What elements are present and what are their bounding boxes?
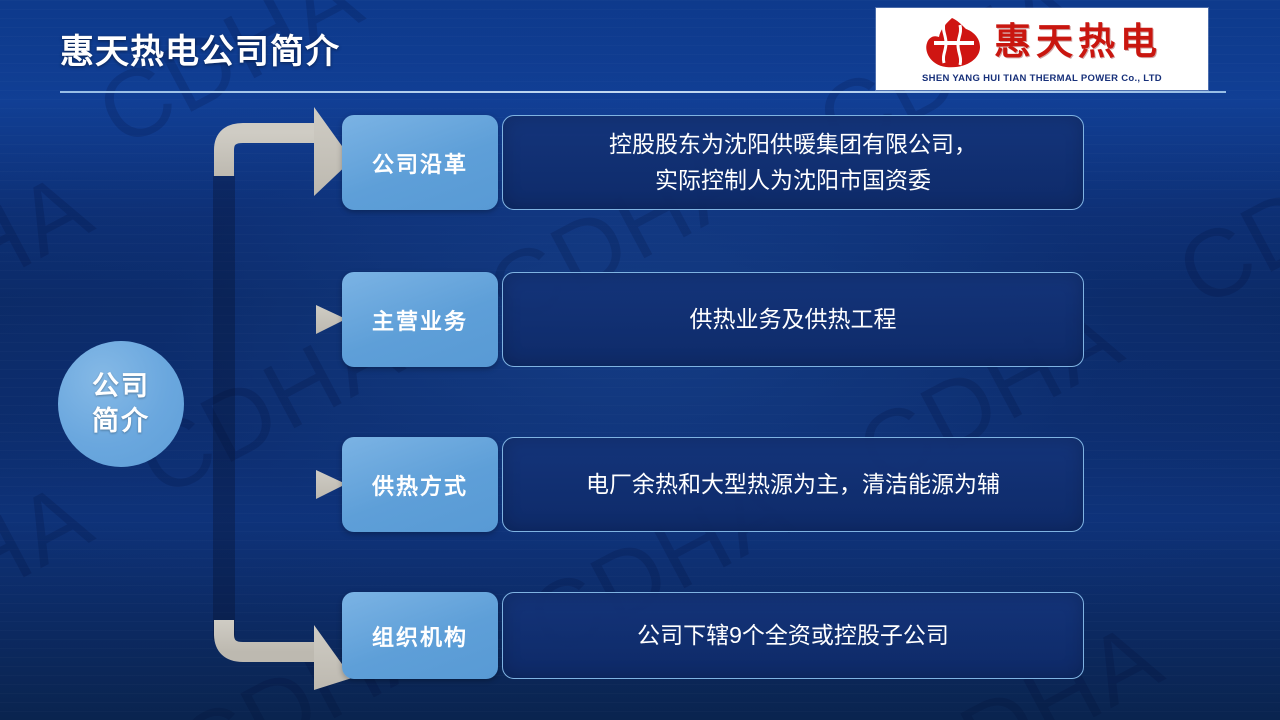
row-content-2: 供热业务及供热工程 bbox=[502, 272, 1084, 367]
company-logo: 惠天热电 SHEN YANG HUI TIAN THERMAL POWER Co… bbox=[876, 8, 1208, 90]
logo-chinese-name: 惠天热电 bbox=[994, 24, 1162, 61]
slide-canvas: CDHA CDHA CDHA CDHA CDHA CDHA CDHA CDHA … bbox=[0, 0, 1280, 720]
header-divider bbox=[60, 91, 1226, 93]
row-content-1-line-2: 实际控制人为沈阳市国资委 bbox=[609, 163, 977, 199]
hub-line-2: 简介 bbox=[92, 404, 150, 439]
row-content-3-line-1: 电厂余热和大型热源为主，清洁能源为辅 bbox=[586, 467, 1000, 503]
row-label-2[interactable]: 主营业务 bbox=[342, 272, 498, 367]
row-label-3[interactable]: 供热方式 bbox=[342, 437, 498, 532]
row-label-4[interactable]: 组织机构 bbox=[342, 592, 498, 679]
row-content-1: 控股股东为沈阳供暖集团有限公司， 实际控制人为沈阳市国资委 bbox=[502, 115, 1084, 210]
row-label-1[interactable]: 公司沿革 bbox=[342, 115, 498, 210]
row-content-3: 电厂余热和大型热源为主，清洁能源为辅 bbox=[502, 437, 1084, 532]
flame-logo-icon bbox=[922, 17, 984, 69]
row-content-2-line-1: 供热业务及供热工程 bbox=[690, 302, 897, 338]
logo-english-name: SHEN YANG HUI TIAN THERMAL POWER Co., LT… bbox=[922, 73, 1162, 84]
page-title: 惠天热电公司简介 bbox=[60, 24, 340, 73]
row-content-4-line-1: 公司下辖9个全资或控股子公司 bbox=[637, 618, 949, 654]
hub-circle: 公司 简介 bbox=[58, 341, 184, 467]
logo-main-row: 惠天热电 bbox=[922, 15, 1162, 71]
row-content-1-line-1: 控股股东为沈阳供暖集团有限公司， bbox=[609, 127, 977, 163]
row-content-4: 公司下辖9个全资或控股子公司 bbox=[502, 592, 1084, 679]
hub-line-1: 公司 bbox=[92, 369, 150, 404]
